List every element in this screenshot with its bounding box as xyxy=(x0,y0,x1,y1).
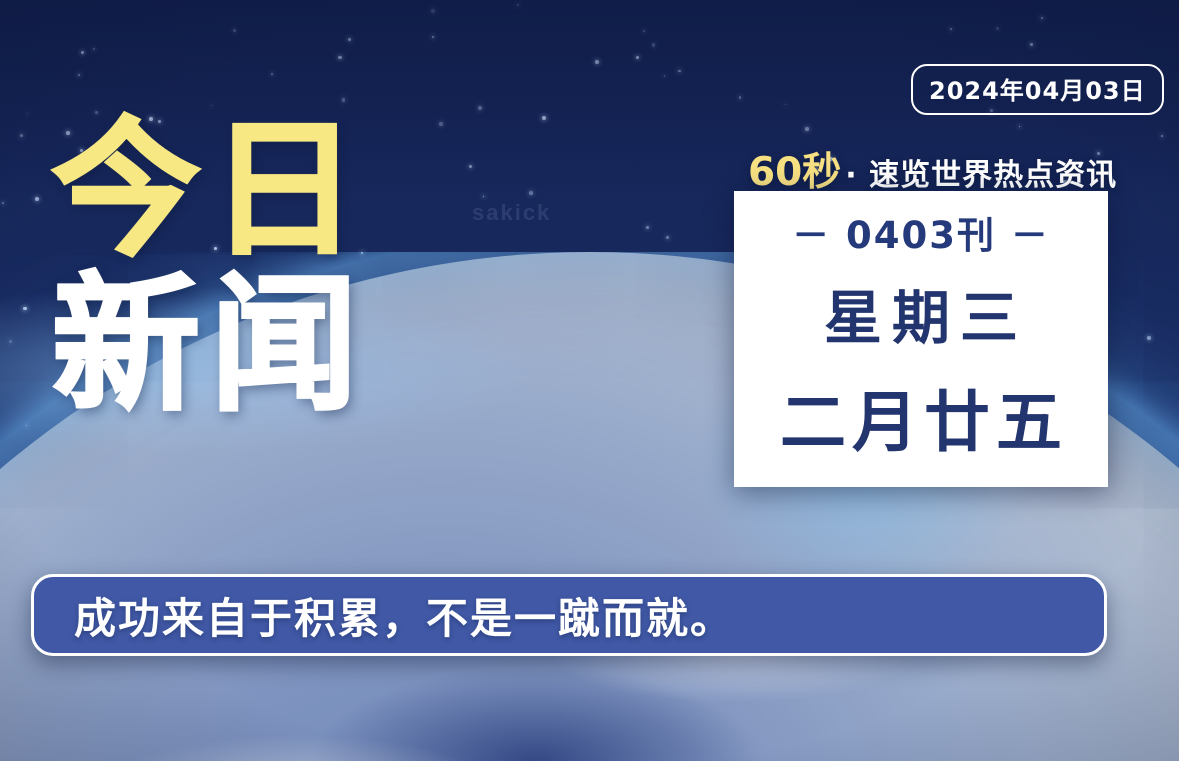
lunar-date-label: 二月廿五 xyxy=(774,369,1068,465)
tagline-highlight: 60秒 xyxy=(748,150,841,195)
poster-title: 今日 新闻 xyxy=(52,96,368,441)
tagline: 60秒· 速览世界热点资讯 xyxy=(748,141,1117,197)
tagline-rest: · 速览世界热点资讯 xyxy=(845,158,1117,193)
date-badge: 2024年04月03日 xyxy=(911,64,1164,115)
weekday-label: 星期三 xyxy=(814,271,1028,355)
news-poster: sakick 今日 新闻 2024年04月03日 60秒· 速览世界热点资讯 －… xyxy=(0,0,1179,761)
issue-card: － 0403刊 － 星期三 二月廿五 xyxy=(734,191,1108,487)
title-line-news: 新闻 xyxy=(52,251,368,440)
issue-number: － 0403刊 － xyxy=(792,205,1050,259)
quote-bar: 成功来自于积累，不是一蹴而就。 xyxy=(31,574,1107,656)
quote-text: 成功来自于积累，不是一蹴而就。 xyxy=(74,585,734,646)
